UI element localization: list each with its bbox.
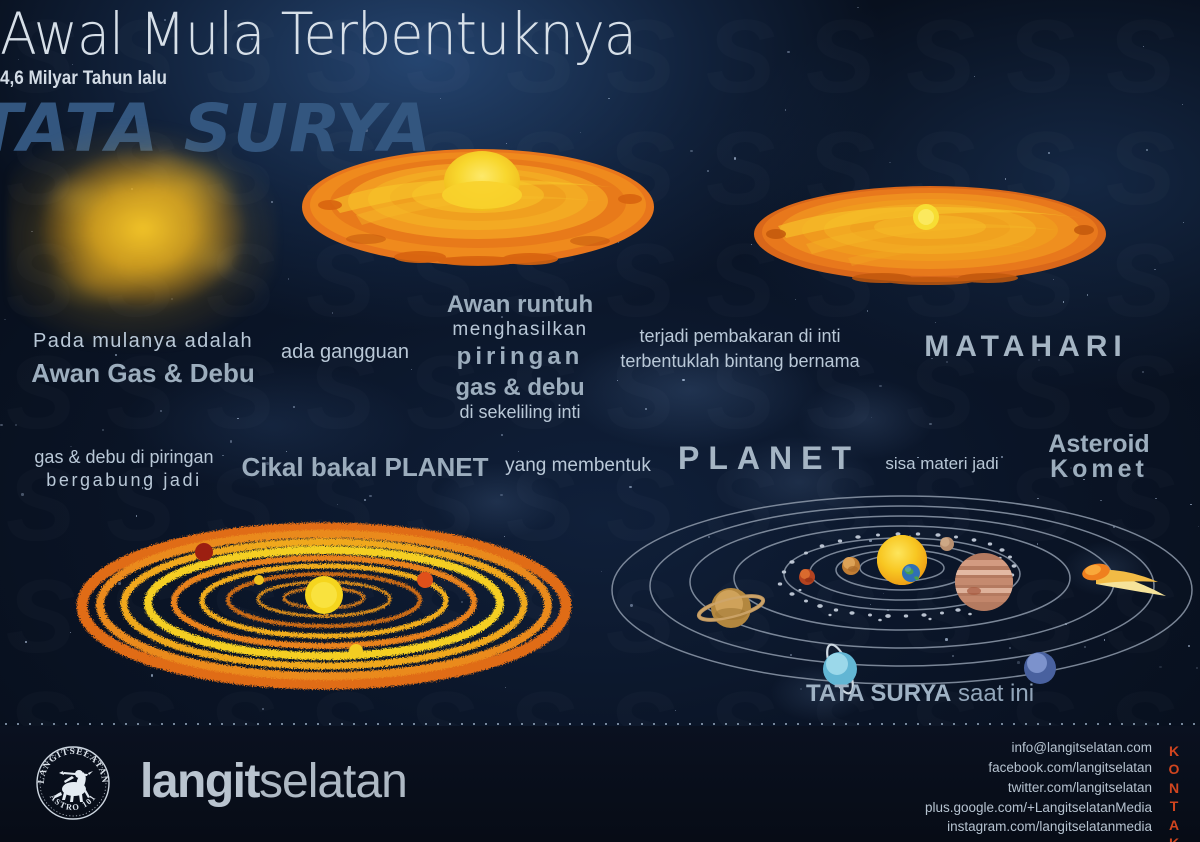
label-cloud-line2: Awan Gas & Debu xyxy=(12,358,274,389)
star xyxy=(1154,269,1156,271)
star xyxy=(601,571,602,572)
star xyxy=(645,408,647,410)
infographic-poster: Awal Mula Terbentuknya 4,6 Milyar Tahun … xyxy=(0,0,1200,842)
planet-saturn xyxy=(697,588,765,628)
planetesimal-red xyxy=(195,543,213,561)
star xyxy=(629,486,631,488)
star xyxy=(102,429,104,431)
star xyxy=(929,423,931,425)
label-komet: Komet xyxy=(1010,455,1188,484)
planet-jupiter xyxy=(955,553,1013,611)
star xyxy=(160,410,162,412)
star xyxy=(501,434,503,436)
page-title: Awal Mula Terbentuknya xyxy=(0,0,1116,68)
contact-instagram[interactable]: instagram.com/langitselatanmedia xyxy=(925,817,1152,837)
label-solar-system-now: TATA SURYA saat ini xyxy=(806,680,1034,708)
brand-bold: langit xyxy=(140,755,259,808)
planet-venus xyxy=(842,557,860,575)
star xyxy=(675,710,676,711)
kontak-letter: K xyxy=(1166,742,1184,760)
star xyxy=(411,369,412,370)
label-matahari: MATAHARI xyxy=(876,330,1176,364)
brand-wordmark: langitselatan xyxy=(140,758,407,806)
star xyxy=(288,278,289,279)
planet-mars xyxy=(799,569,815,585)
label-ignition-2: terbentuklah bintang bernama xyxy=(600,351,880,372)
stage-gas-dust-cloud xyxy=(8,118,278,348)
star xyxy=(1183,222,1184,223)
star xyxy=(1142,371,1144,373)
label-collapse-5: di sekeliling inti xyxy=(420,402,620,423)
stage-solar-system-today xyxy=(630,498,1200,698)
label-collapse-1: Awan runtuh xyxy=(420,291,620,319)
label-protoplanet: Cikal bakal PLANET xyxy=(230,452,500,483)
star xyxy=(1143,46,1144,47)
label-cloud-line1: Pada mulanya adalah xyxy=(20,330,266,353)
star xyxy=(1063,301,1065,303)
kontak-letter: O xyxy=(1166,760,1184,778)
star xyxy=(0,424,3,427)
label-disturbance: ada gangguan xyxy=(275,341,415,364)
stage-sun-disk xyxy=(752,178,1108,288)
langitselatan-seal-logo: LANGITSELATAN ASTRO 101 xyxy=(34,744,112,822)
star xyxy=(293,406,295,408)
planet-sun xyxy=(877,535,927,585)
star xyxy=(871,417,872,418)
star xyxy=(262,708,264,710)
label-solar-system-now-bold: TATA SURYA xyxy=(806,680,951,707)
stage-protoplanetary-disk xyxy=(78,512,570,692)
kontak-letter: T xyxy=(1166,797,1184,815)
star xyxy=(682,379,685,382)
star xyxy=(4,319,5,320)
seal-centaur-icon xyxy=(53,770,93,802)
kontak-letter: K xyxy=(1166,834,1184,842)
star xyxy=(707,170,709,172)
star xyxy=(867,310,869,312)
planetesimal-orange xyxy=(417,572,433,588)
planet-mercury xyxy=(940,537,954,551)
label-accretion-2: bergabung jadi xyxy=(22,470,226,491)
label-forming: yang membentuk xyxy=(497,455,659,477)
star xyxy=(230,440,232,442)
kontak-letter: A xyxy=(1166,816,1184,834)
contact-email[interactable]: info@langitselatan.com xyxy=(925,738,1152,758)
contact-facebook[interactable]: facebook.com/langitselatan xyxy=(925,758,1152,778)
star xyxy=(70,632,71,633)
label-collapse-3: piringan xyxy=(420,343,620,371)
label-collapse-2: menghasilkan xyxy=(420,319,620,341)
planet-earth xyxy=(902,564,920,582)
star xyxy=(518,451,519,452)
brand-light: selatan xyxy=(259,755,407,808)
star xyxy=(369,495,371,497)
kontak-vertical-label: KONTAK xyxy=(1166,742,1184,842)
stage-collapsing-disk xyxy=(300,143,656,273)
label-ignition-1: terjadi pembakaran di inti xyxy=(606,326,874,347)
label-accretion-1: gas & debu di piringan xyxy=(22,447,226,468)
planetesimal-yellow-2 xyxy=(349,644,363,658)
star xyxy=(115,354,117,356)
star xyxy=(1087,294,1089,296)
label-collapse-4: gas & debu xyxy=(420,374,620,402)
star xyxy=(935,322,936,323)
page-subtitle: 4,6 Milyar Tahun lalu xyxy=(0,68,1080,90)
star xyxy=(364,499,366,501)
star xyxy=(237,418,238,419)
star xyxy=(15,424,17,426)
footer-divider xyxy=(0,723,1200,725)
star xyxy=(332,312,333,313)
contact-list: info@langitselatan.com facebook.com/lang… xyxy=(925,738,1152,837)
label-leftovers: sisa materi jadi xyxy=(872,454,1012,474)
kontak-letter: N xyxy=(1166,779,1184,797)
planetesimal-yellow-1 xyxy=(254,575,264,585)
star xyxy=(500,494,502,496)
star xyxy=(25,641,27,643)
contact-gplus[interactable]: plus.google.com/+LangitselatanMedia xyxy=(925,798,1152,818)
label-solar-system-now-light: saat ini xyxy=(958,680,1034,707)
star xyxy=(21,493,23,495)
star xyxy=(337,504,338,505)
contact-twitter[interactable]: twitter.com/langitselatan xyxy=(925,778,1152,798)
star xyxy=(795,299,796,300)
label-planet: PLANET xyxy=(662,440,876,477)
star xyxy=(879,385,881,387)
